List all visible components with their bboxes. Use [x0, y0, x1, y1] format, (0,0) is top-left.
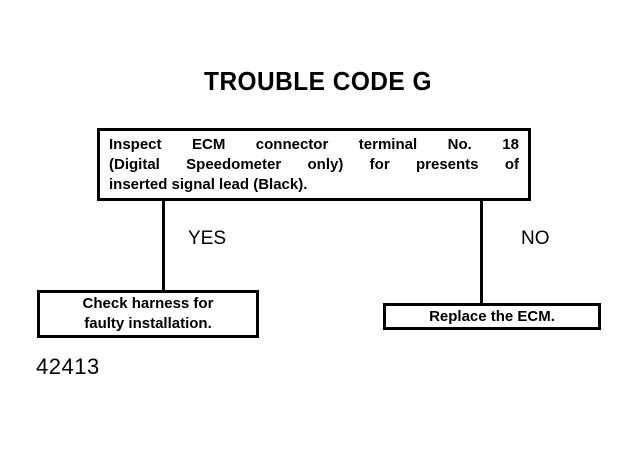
- branch-label-yes: YES: [188, 228, 226, 250]
- decision-box-line-3: inserted signal lead (Black).: [109, 175, 519, 195]
- figure-number: 42413: [36, 354, 100, 380]
- decision-line1-word-2: ECM: [192, 135, 225, 155]
- decision-line2-word-3: only): [308, 155, 344, 175]
- decision-line2-word-5: presents: [416, 155, 479, 175]
- decision-line1-word-6: 18: [502, 135, 519, 155]
- decision-line1-word-5: No.: [448, 135, 472, 155]
- decision-box-inspect-ecm-connector: Inspect ECM connector terminal No. 18 (D…: [97, 128, 531, 201]
- decision-line2-word-2: Speedometer: [186, 155, 281, 175]
- decision-box-line-1: Inspect ECM connector terminal No. 18: [109, 135, 519, 155]
- decision-line2-word-4: for: [370, 155, 390, 175]
- page-title: TROUBLE CODE G: [19, 66, 617, 96]
- flowchart-page: TROUBLE CODE G Inspect ECM connector ter…: [0, 0, 636, 451]
- decision-line1-word-1: Inspect: [109, 135, 162, 155]
- outcome-ecm-line-1: Replace the ECM.: [429, 307, 555, 327]
- decision-line1-word-4: terminal: [359, 135, 417, 155]
- outcome-harness-line-1: Check harness for: [83, 294, 214, 314]
- connector-line-yes: [162, 200, 165, 292]
- decision-line1-word-3: connector: [256, 135, 329, 155]
- decision-line2-word-1: (Digital: [109, 155, 160, 175]
- decision-box-line-2: (Digital Speedometer only) for presents …: [109, 155, 519, 175]
- branch-label-no: NO: [521, 228, 550, 250]
- outcome-box-check-harness-text: Check harness for faulty installation.: [40, 293, 256, 335]
- outcome-harness-line-2: faulty installation.: [84, 314, 212, 334]
- connector-line-no: [480, 200, 483, 305]
- outcome-box-replace-ecm: Replace the ECM.: [383, 303, 601, 330]
- outcome-box-check-harness: Check harness for faulty installation.: [37, 290, 259, 338]
- decision-line2-word-6: of: [505, 155, 519, 175]
- outcome-box-replace-ecm-text: Replace the ECM.: [386, 306, 598, 327]
- decision-box-text: Inspect ECM connector terminal No. 18 (D…: [100, 131, 528, 198]
